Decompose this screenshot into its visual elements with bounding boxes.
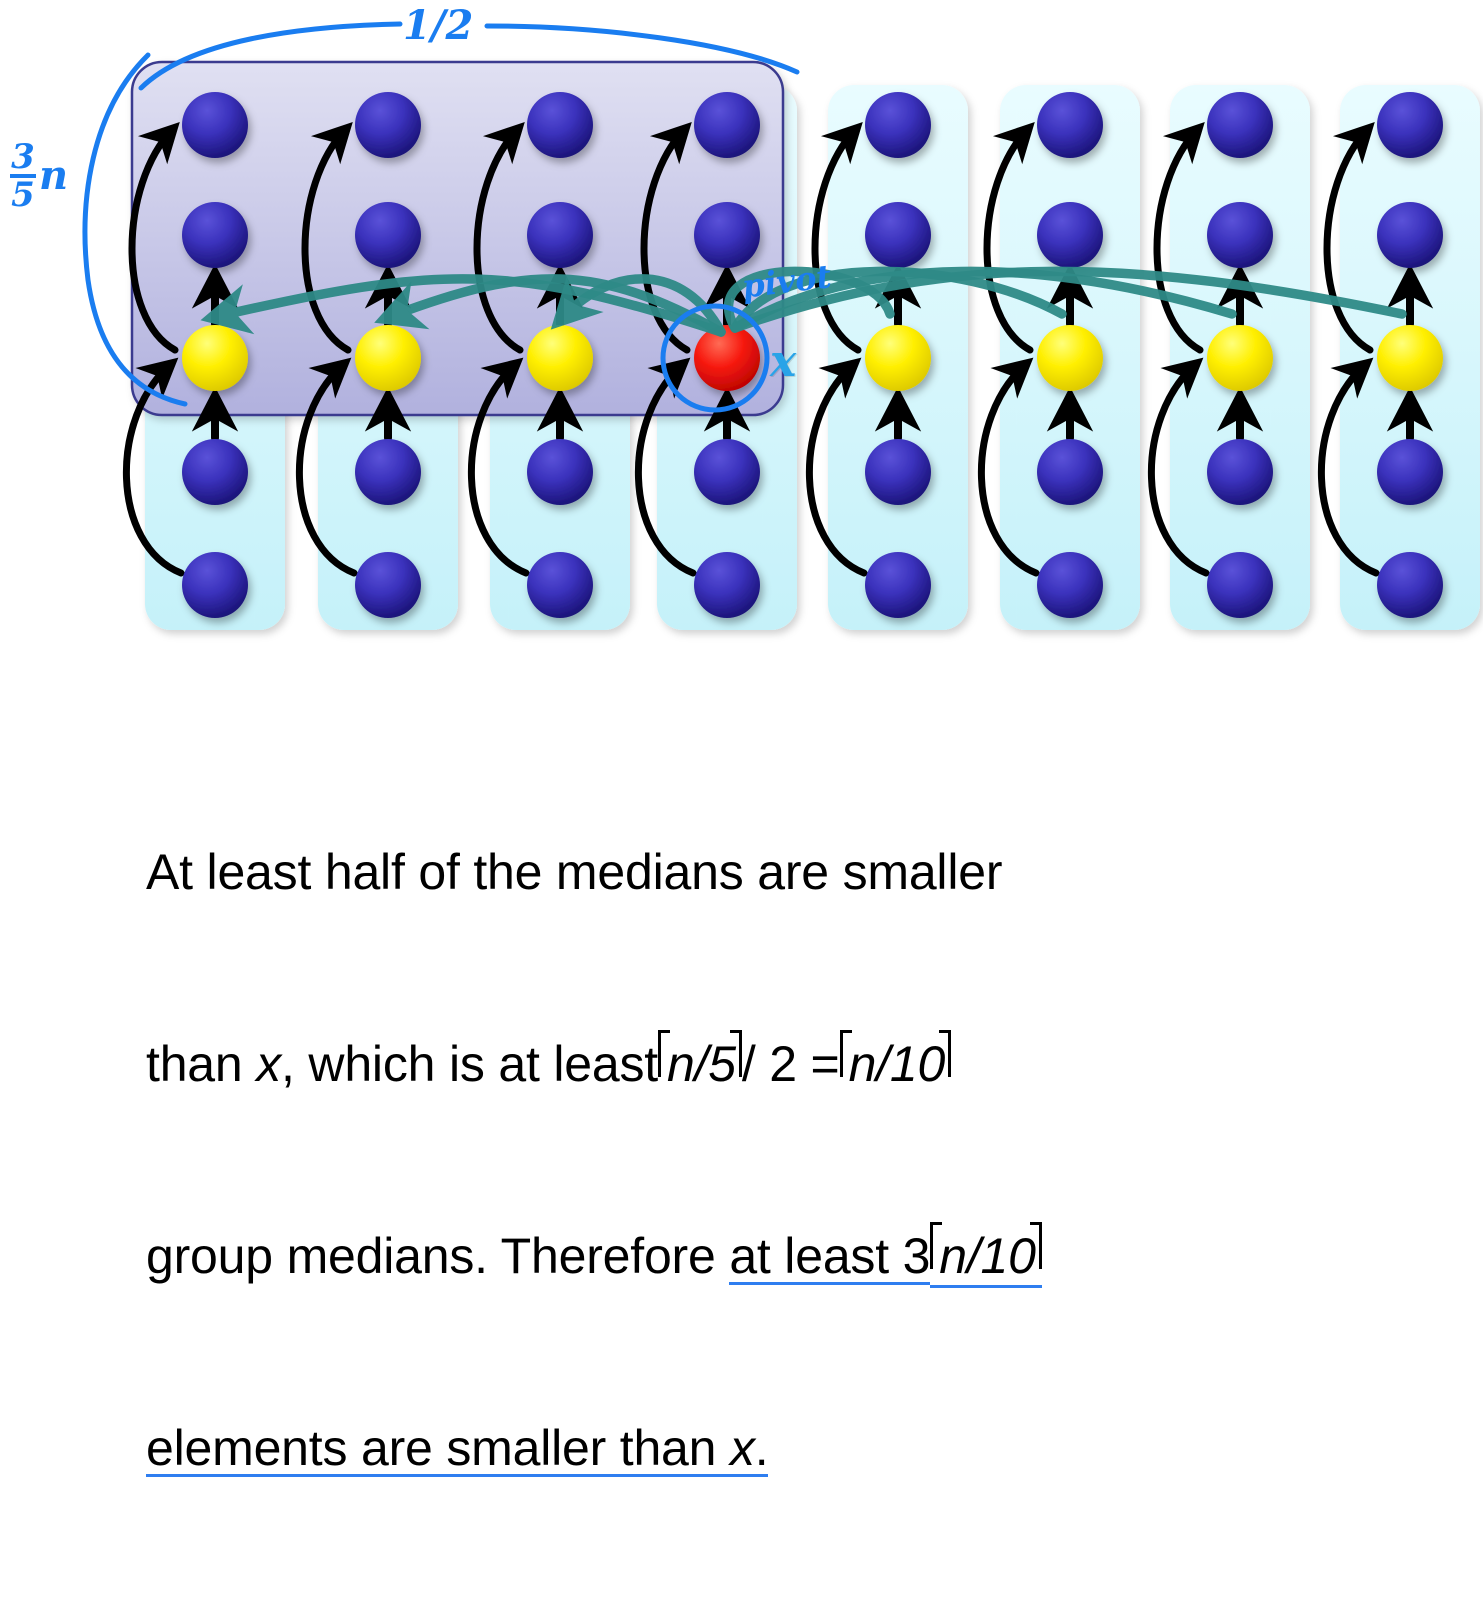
ceil-n-over-5: n/5 bbox=[658, 1032, 742, 1096]
caption-l3-underlined: at least 3 bbox=[729, 1228, 930, 1285]
three-fifths-arc bbox=[85, 55, 185, 404]
caption-text: At least half of the medians are smaller… bbox=[146, 712, 1366, 1608]
x-annotation: x bbox=[770, 336, 796, 387]
caption-line-1: At least half of the medians are smaller bbox=[146, 840, 1366, 904]
fraction-denominator: 5 bbox=[10, 178, 36, 212]
caption-l4-underlined: elements are smaller than bbox=[146, 1420, 730, 1477]
caption-l2-c: / 2 = bbox=[742, 1036, 840, 1092]
caption-l3-a: group medians. Therefore bbox=[146, 1228, 729, 1284]
half-brace-left-arc bbox=[141, 24, 400, 88]
caption-l2-x: x bbox=[256, 1036, 281, 1092]
caption-l4-dot: . bbox=[755, 1420, 769, 1477]
ceil-n-over-10-a: n/10 bbox=[840, 1032, 952, 1096]
half-annotation: 1/2 bbox=[403, 2, 473, 49]
caption-l2-b: , which is at least bbox=[281, 1036, 658, 1092]
pivot-circle bbox=[663, 306, 767, 410]
fraction-variable: n bbox=[36, 156, 68, 196]
fraction-numerator: 3 bbox=[10, 140, 36, 174]
three-fifths-n-annotation: 3 5 n bbox=[10, 140, 68, 212]
half-brace-right-arc bbox=[487, 26, 797, 72]
caption-line-2: than x, which is at leastn/5/ 2 =n/10 bbox=[146, 1032, 1366, 1096]
caption-line-3: group medians. Therefore at least 3n/10 bbox=[146, 1224, 1366, 1288]
slide-canvas: 1/2 3 5 n pivot x At least half of the m… bbox=[0, 0, 1483, 1000]
caption-l1-text: At least half of the medians are smaller bbox=[146, 844, 1002, 900]
caption-l2-a: than bbox=[146, 1036, 256, 1092]
caption-l4-x: x bbox=[730, 1420, 755, 1477]
ceil-n-over-10-b: n/10 bbox=[930, 1224, 1042, 1288]
caption-line-4: elements are smaller than x. bbox=[146, 1416, 1366, 1480]
